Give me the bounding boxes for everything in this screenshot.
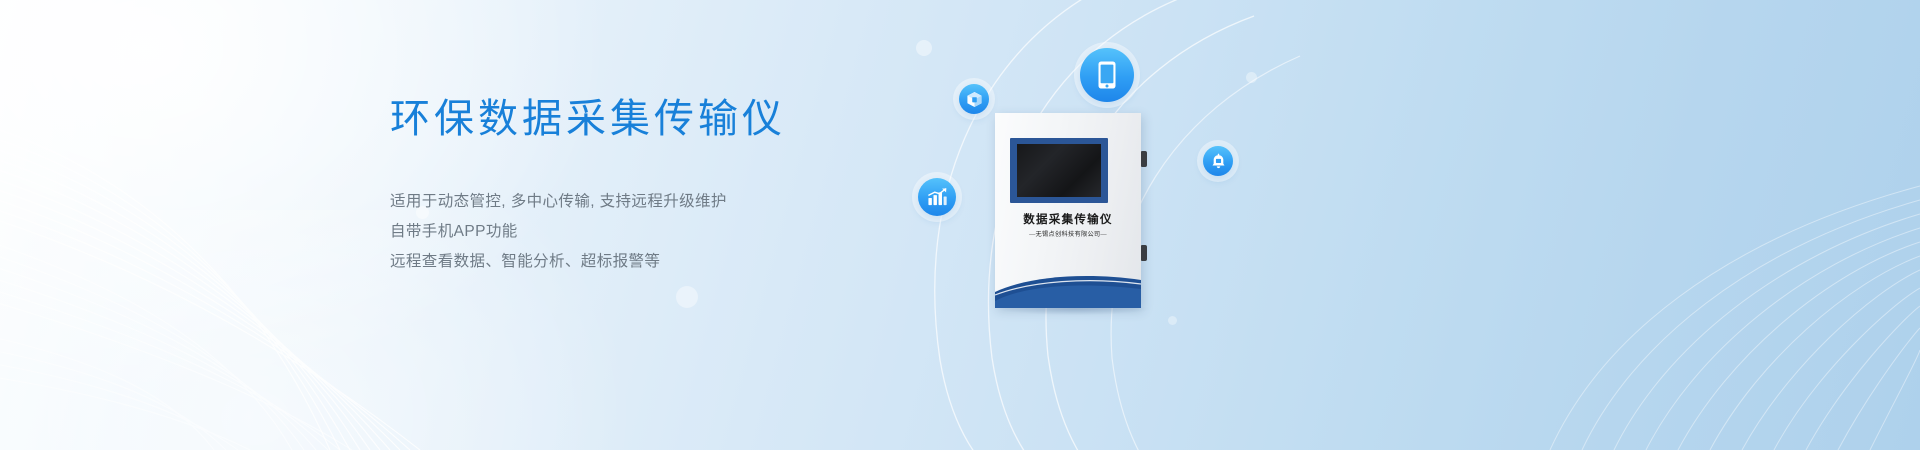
bar-chart-growth-icon[interactable] xyxy=(918,178,956,216)
decorative-bubble xyxy=(916,40,932,56)
device-screen-bezel xyxy=(1010,138,1108,203)
cube-glyph xyxy=(966,91,983,108)
mobile-phone-icon[interactable] xyxy=(1080,48,1134,102)
alarm-glyph xyxy=(1210,153,1227,170)
decorative-orbit-arcs xyxy=(830,0,1550,450)
device-company-name: —无锡点创科技有限公司— xyxy=(995,229,1141,238)
cube-package-icon[interactable] xyxy=(959,84,989,114)
hero-banner: 环保数据采集传输仪 适用于动态管控, 多中心传输, 支持远程升级维护 自带手机A… xyxy=(0,0,1920,450)
mobile-phone-glyph xyxy=(1096,60,1118,90)
decorative-bubble xyxy=(676,286,698,308)
page-title: 环保数据采集传输仪 xyxy=(390,96,910,143)
banner-copy: 环保数据采集传输仪 适用于动态管控, 多中心传输, 支持远程升级维护 自带手机A… xyxy=(390,96,910,277)
decorative-bubble xyxy=(1246,72,1257,83)
device-side-knob-top xyxy=(1141,151,1147,167)
device-brand-title: 数据采集传输仪 xyxy=(995,211,1141,227)
subtitle-line-3: 远程查看数据、智能分析、超标报警等 xyxy=(390,247,910,277)
device-wave-graphic xyxy=(995,262,1141,308)
decorative-bubble xyxy=(1168,316,1177,325)
subtitle-line-1: 适用于动态管控, 多中心传输, 支持远程升级维护 xyxy=(390,187,910,217)
bar-chart-glyph xyxy=(927,187,948,207)
device-enclosure: 数据采集传输仪 —无锡点创科技有限公司— xyxy=(995,113,1141,308)
decorative-hatch-lines xyxy=(1300,0,1920,450)
device-photo: 数据采集传输仪 —无锡点创科技有限公司— xyxy=(995,113,1141,308)
subtitle-line-2: 自带手机APP功能 xyxy=(390,217,910,247)
device-display xyxy=(1017,144,1101,197)
alarm-bell-icon[interactable] xyxy=(1203,146,1233,176)
device-side-knob-bottom xyxy=(1141,245,1147,261)
